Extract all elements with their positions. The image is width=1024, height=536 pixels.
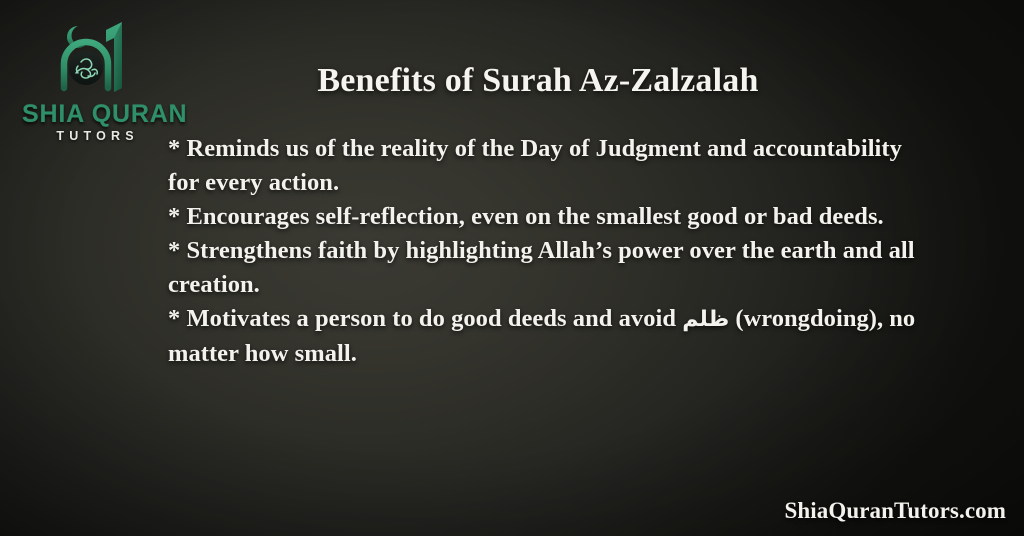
- list-item: * Reminds us of the reality of the Day o…: [168, 132, 928, 200]
- arabic-term-zulm: ظلم: [682, 307, 729, 332]
- site-credit: ShiaQuranTutors.com: [784, 498, 1006, 524]
- poster-canvas: SHIA QURAN TUTORS Benefits of Surah Az-Z…: [0, 0, 1024, 536]
- logo-subword: TUTORS: [22, 130, 168, 143]
- brand-logo: SHIA QURAN TUTORS: [22, 16, 168, 144]
- benefit-text-before: * Motivates a person to do good deeds an…: [168, 305, 682, 332]
- list-item: * Strengthens faith by highlighting Alla…: [168, 234, 928, 302]
- logo-wordmark: SHIA QURAN: [22, 102, 168, 127]
- logo-emblem-svg: [48, 18, 144, 102]
- arabic-calligraphy-medallion-icon: [69, 51, 103, 85]
- logo-emblem: [48, 18, 144, 102]
- list-item: * Encourages self-reflection, even on th…: [168, 200, 928, 234]
- list-item-with-arabic: * Motivates a person to do good deeds an…: [168, 302, 928, 371]
- benefits-list: * Reminds us of the reality of the Day o…: [168, 132, 928, 371]
- page-title: Benefits of Surah Az-Zalzalah: [168, 62, 908, 100]
